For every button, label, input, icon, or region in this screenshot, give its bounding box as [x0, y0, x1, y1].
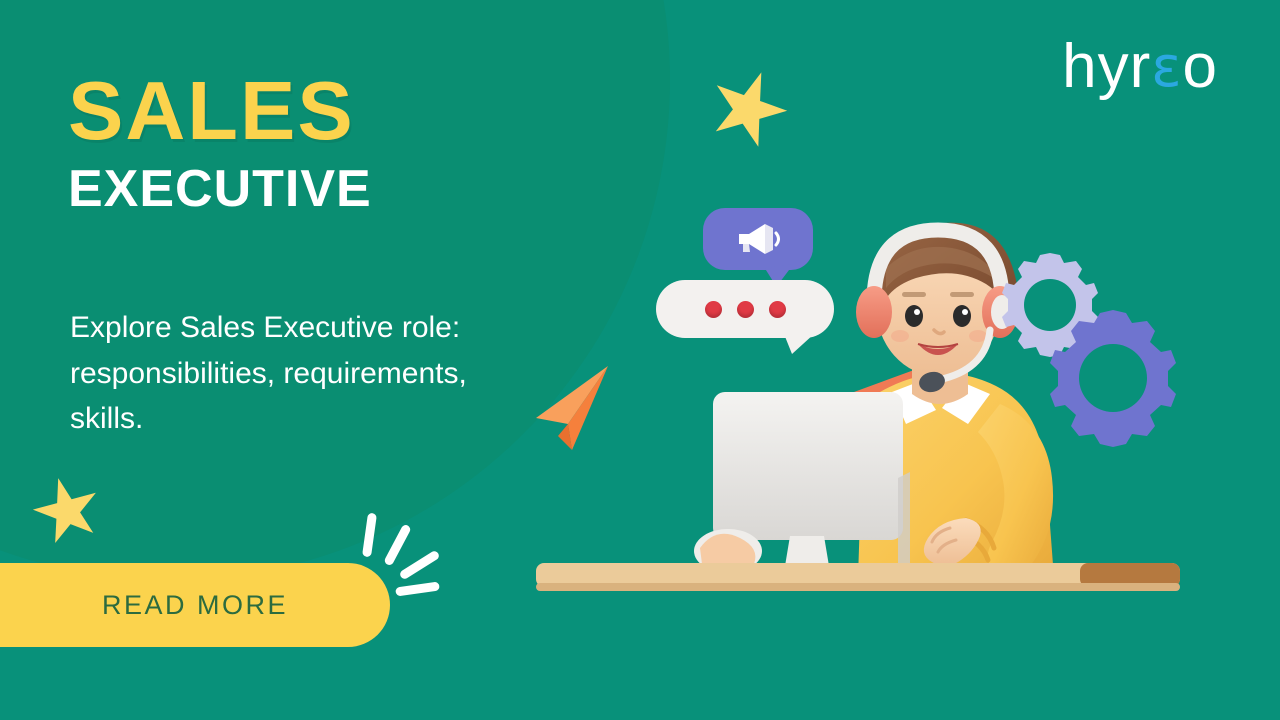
- description-text: Explore Sales Executive role: responsibi…: [70, 305, 490, 442]
- hyreo-logo[interactable]: hyrεo: [1062, 36, 1218, 98]
- character-illustration: [828, 223, 1054, 578]
- paper-plane-icon: [528, 362, 612, 454]
- promo-banner: hyrεo SALES EXECUTIVE Explore Sales Exec…: [0, 0, 1280, 720]
- monitor-illustration: [713, 392, 910, 578]
- mouse-and-hand: [694, 529, 762, 573]
- typing-dot: [737, 301, 754, 318]
- sparkle-dash: [383, 523, 412, 566]
- headline-secondary: EXECUTIVE: [68, 163, 372, 215]
- headline-primary: SALES: [68, 72, 372, 151]
- desk-surface: [536, 563, 1180, 591]
- gear-icon-dark: [1050, 310, 1176, 447]
- typing-dot: [705, 301, 722, 318]
- read-more-button[interactable]: READ MORE: [0, 563, 390, 647]
- headline-block: SALES EXECUTIVE: [68, 72, 372, 215]
- star-icon: [698, 59, 798, 159]
- megaphone-icon: [735, 222, 781, 256]
- gear-icon-light: [1002, 253, 1098, 357]
- sparkle-dash: [398, 550, 440, 581]
- read-more-label: READ MORE: [102, 590, 288, 621]
- announcement-bubble: [703, 208, 813, 270]
- logo-text-suffix: o: [1183, 32, 1218, 101]
- typing-dot: [769, 301, 786, 318]
- logo-accent-letter: ε: [1151, 35, 1182, 100]
- typing-bubble: [656, 280, 834, 338]
- sparkle-lines-icon: [355, 505, 445, 590]
- sparkle-dash: [395, 581, 440, 596]
- logo-text-prefix: hyr: [1062, 32, 1151, 101]
- sparkle-dash: [362, 513, 377, 558]
